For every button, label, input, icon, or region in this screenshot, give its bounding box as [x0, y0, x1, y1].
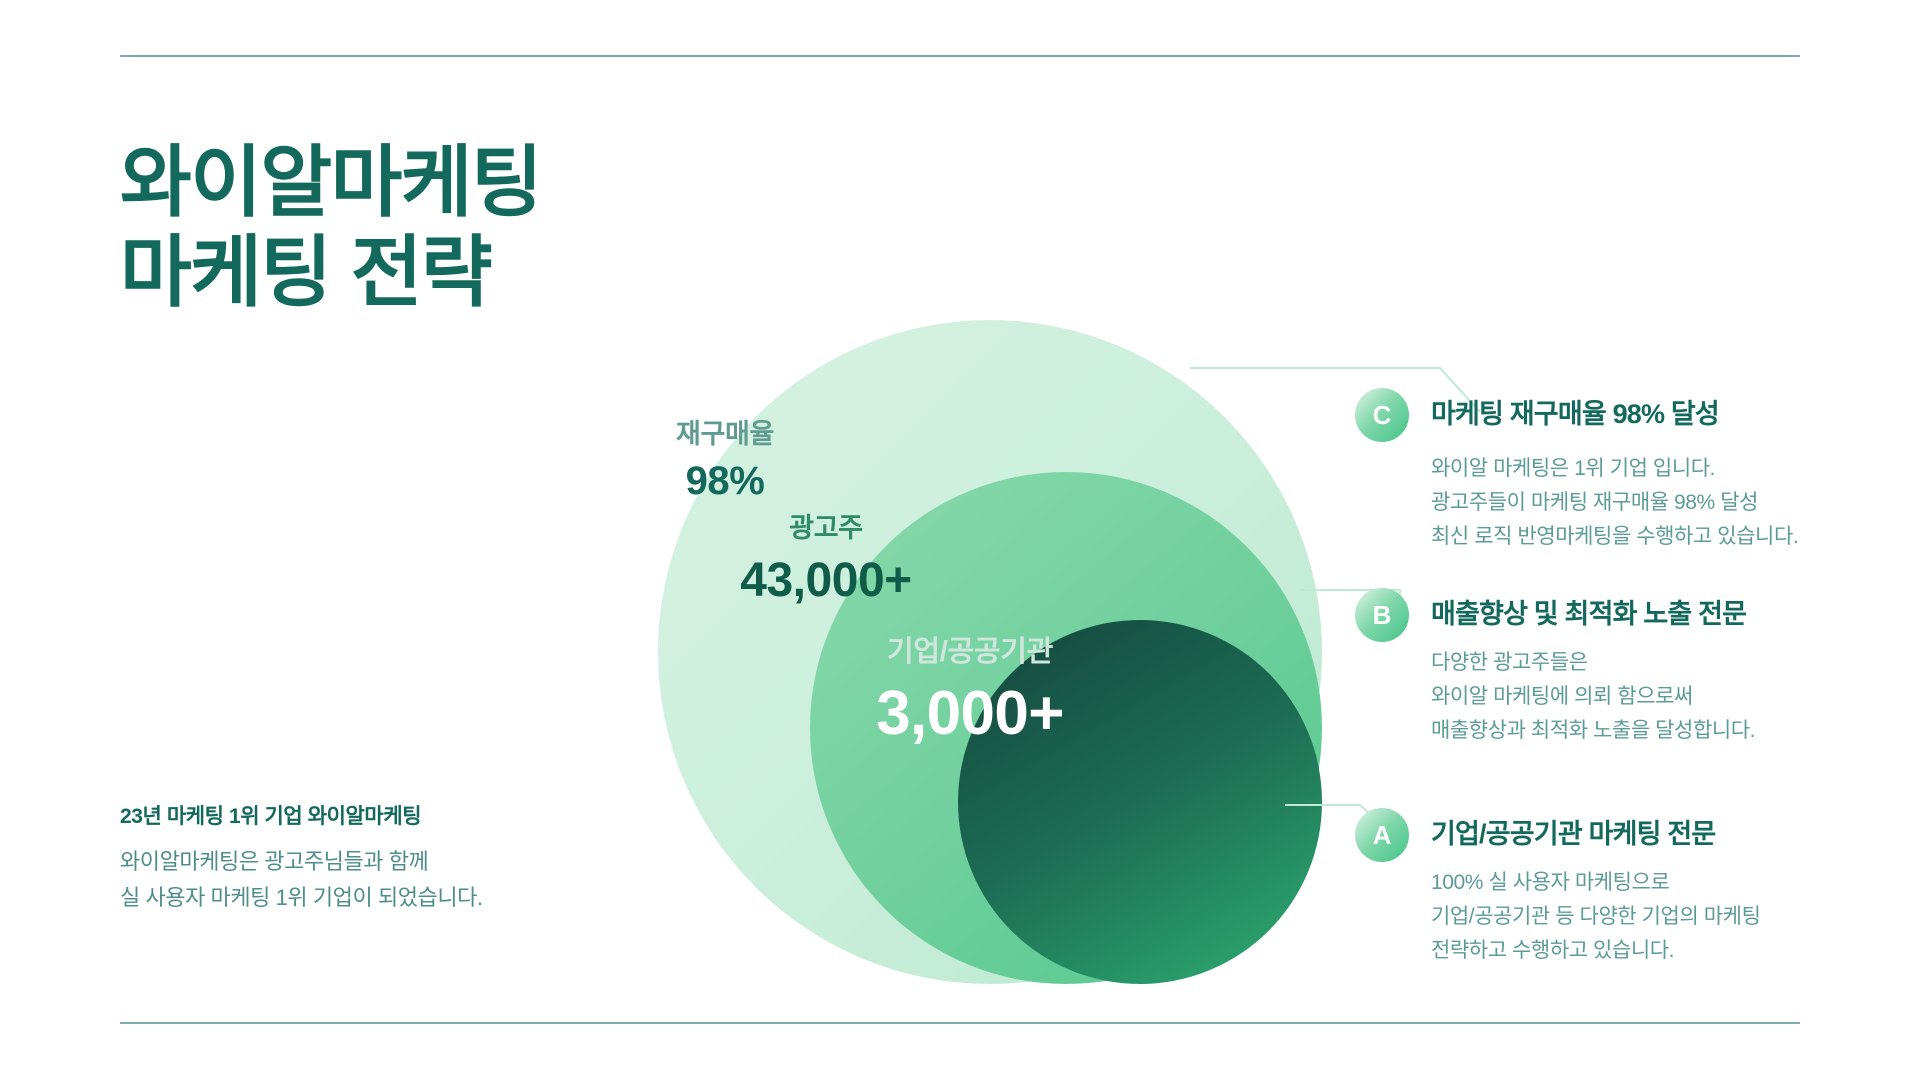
footnote-title: 23년 마케팅 1위 기업 와이알마케팅 — [120, 800, 580, 830]
legend-body-a: 100% 실 사용자 마케팅으로 기업/공공기관 등 다양한 기업의 마케팅 전… — [1431, 866, 1875, 968]
legend-item-b[interactable]: B 매출향상 및 최적화 노출 전문 다양한 광고주들은 와이알 마케팅에 의뢰… — [1355, 588, 1875, 748]
legend-badge-b: B — [1355, 588, 1409, 642]
legend-badge-a: A — [1355, 808, 1409, 862]
legend-item-c[interactable]: C 마케팅 재구매율 98% 달성 와이알 마케팅은 1위 기업 입니다. 광고… — [1355, 388, 1875, 554]
legend-title-a: 기업/공공기관 마케팅 전문 — [1431, 808, 1875, 850]
nested-circles-chart — [658, 320, 1322, 984]
divider-top — [120, 55, 1800, 57]
footnote-body: 와이알마케팅은 광고주님들과 함께 실 사용자 마케팅 1위 기업이 되었습니다… — [120, 844, 580, 915]
legend-body-b: 다양한 광고주들은 와이알 마케팅에 의뢰 함으로써 매출향상과 최적화 노출을… — [1431, 646, 1875, 748]
legend-body-c: 와이알 마케팅은 1위 기업 입니다. 광고주들이 마케팅 재구매율 98% 달… — [1431, 452, 1875, 554]
slide-canvas: 와이알마케팅 마케팅 전략 재구매율 98% 광고주 43,000+ 기업/공공… — [0, 0, 1920, 1080]
page-title: 와이알마케팅 마케팅 전략 — [120, 138, 541, 317]
footnote-block: 23년 마케팅 1위 기업 와이알마케팅 와이알마케팅은 광고주님들과 함께 실… — [120, 800, 580, 915]
divider-bottom — [120, 1022, 1800, 1024]
legend-title-c: 마케팅 재구매율 98% 달성 — [1431, 388, 1875, 430]
legend-badge-c: C — [1355, 388, 1409, 442]
legend-title-b: 매출향상 및 최적화 노출 전문 — [1431, 588, 1875, 630]
legend-item-a[interactable]: A 기업/공공기관 마케팅 전문 100% 실 사용자 마케팅으로 기업/공공기… — [1355, 808, 1875, 968]
ring-inner-enterprise — [958, 620, 1322, 984]
